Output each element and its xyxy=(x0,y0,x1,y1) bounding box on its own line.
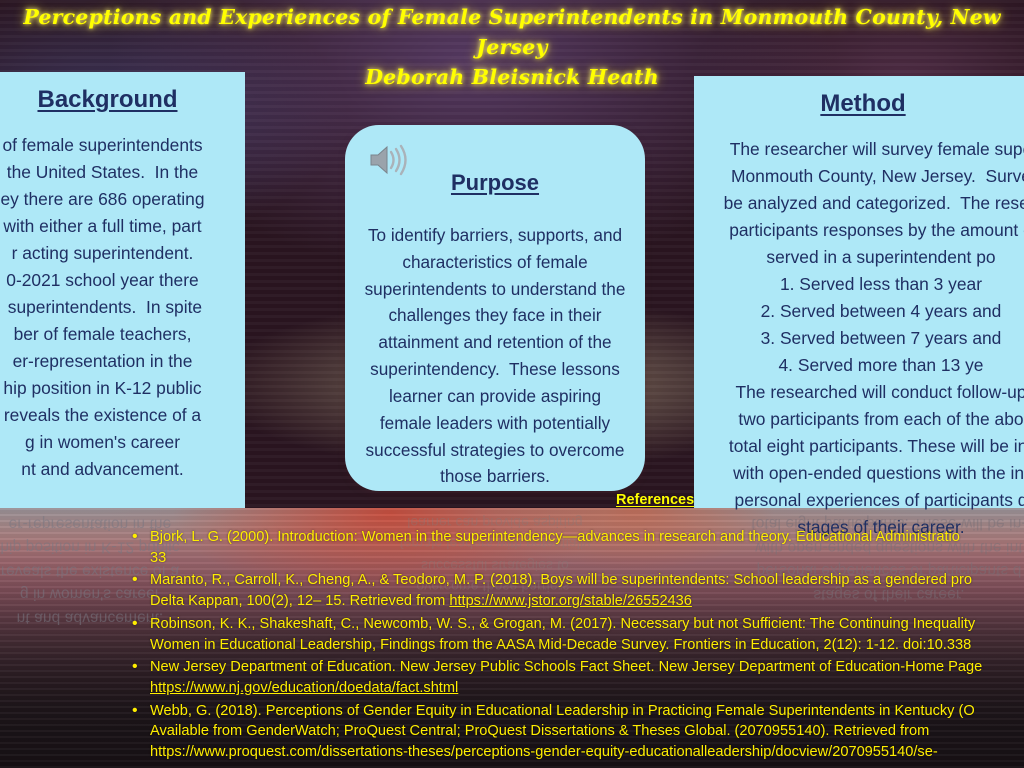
reference-line: 33 xyxy=(150,548,1024,569)
reference-line: Webb, G. (2018). Perceptions of Gender E… xyxy=(150,701,1024,722)
reference-item: New Jersey Department of Education. New … xyxy=(128,657,1024,698)
reference-line: Maranto, R., Carroll, K., Cheng, A., & T… xyxy=(150,570,1024,591)
reference-line: Robinson, K. K., Shakeshaft, C., Newcomb… xyxy=(150,614,1024,635)
purpose-callout-box: Purpose To identify barriers, supports, … xyxy=(345,125,645,491)
poster-slide: nt and advancement. g in women's career … xyxy=(0,0,1024,768)
slide-title: Perceptions and Experiences of Female Su… xyxy=(0,2,1024,62)
reference-line: Women in Educational Leadership, Finding… xyxy=(150,635,1024,656)
reference-line: Bjork, L. G. (2000). Introduction: Women… xyxy=(150,527,1024,548)
reference-link[interactable]: https://www.nj.gov/education/doedata/fac… xyxy=(150,680,458,696)
background-body: of female superintendents the United Sta… xyxy=(0,132,235,483)
references-list: Bjork, L. G. (2000). Introduction: Women… xyxy=(128,527,1024,765)
reference-line: https://www.nj.gov/education/doedata/fac… xyxy=(150,678,1024,699)
reference-line: New Jersey Department of Education. New … xyxy=(150,657,1024,678)
speaker-icon[interactable] xyxy=(367,143,411,177)
reference-line: Available from GenderWatch; ProQuest Cen… xyxy=(150,721,1024,742)
reference-item: Webb, G. (2018). Perceptions of Gender E… xyxy=(128,701,1024,763)
slide-subtitle-author: Deborah Bleisnick Heath xyxy=(0,62,1024,92)
reference-line: Delta Kappan, 100(2), 12– 15. Retrieved … xyxy=(150,591,1024,612)
method-body: The researcher will survey female supe M… xyxy=(704,136,1024,541)
reference-item: Maranto, R., Carroll, K., Cheng, A., & T… xyxy=(128,570,1024,611)
references-heading: References xyxy=(616,492,694,508)
slide-title-block: Perceptions and Experiences of Female Su… xyxy=(0,2,1024,92)
method-panel: Method The researcher will survey female… xyxy=(694,76,1024,508)
background-panel: Background of female superintendents the… xyxy=(0,72,245,508)
reference-line: https://www.proquest.com/dissertations-t… xyxy=(150,742,1024,763)
reference-item: Bjork, L. G. (2000). Introduction: Women… xyxy=(128,527,1024,568)
method-heading: Method xyxy=(704,90,1024,118)
purpose-body: To identify barriers, supports, and char… xyxy=(363,222,627,490)
reference-item: Robinson, K. K., Shakeshaft, C., Newcomb… xyxy=(128,614,1024,655)
reference-link[interactable]: https://www.jstor.org/stable/26552436 xyxy=(449,593,692,609)
